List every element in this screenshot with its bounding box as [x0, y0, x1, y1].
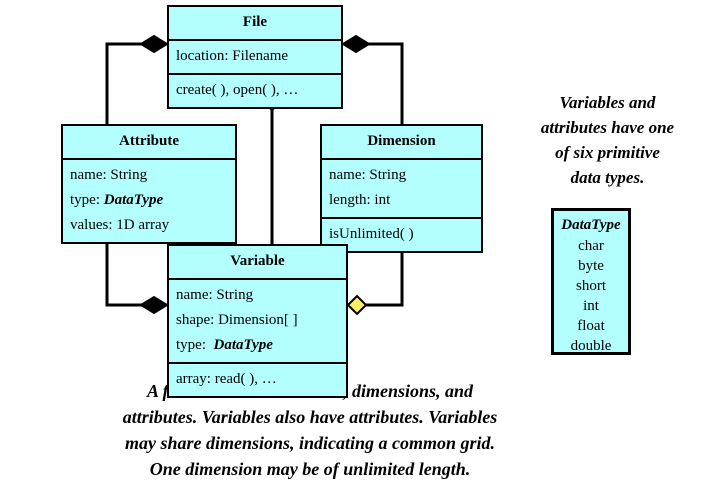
uml-class-file[interactable]: File location: Filename create( ), open(… [167, 5, 343, 109]
uml-enumeration-datatype[interactable]: DataType char byte short int float doubl… [551, 208, 631, 355]
filled-diamond-icon [141, 297, 167, 313]
attribute-field-type-value: DataType [104, 192, 163, 208]
dimension-operation-isunlimited: isUnlimited( ) [329, 222, 474, 247]
variable-operations-compartment: array: read( ), … [169, 362, 346, 396]
caption-right-line-2: attributes have one [500, 115, 715, 140]
caption-right-line-3: of six primitive [500, 140, 715, 165]
datatype-value-char: char [554, 236, 628, 256]
file-operation-create-open: create( ), open( ), … [176, 78, 334, 103]
connector-file-attribute [107, 36, 167, 124]
attribute-attributes-compartment: name: String type: DataType values: 1D a… [63, 158, 235, 242]
dimension-title-compartment: Dimension [322, 126, 481, 158]
attribute-field-values: values: 1D array [70, 213, 228, 238]
caption-bottom-line-2: attributes. Variables also have attribut… [20, 404, 600, 430]
variable-title-compartment: Variable [169, 246, 346, 278]
file-title-compartment: File [169, 7, 341, 39]
datatype-value-double: double [554, 336, 628, 356]
datatype-enum-name: DataType [554, 215, 628, 236]
file-attribute-location: location: Filename [176, 44, 334, 69]
file-operations-compartment: create( ), open( ), … [169, 73, 341, 107]
attribute-field-type: type: DataType [70, 188, 228, 213]
variable-field-type: type: DataType [176, 333, 339, 358]
file-attributes-compartment: location: Filename [169, 39, 341, 73]
attribute-title-compartment: Attribute [63, 126, 235, 158]
variable-field-name: name: String [176, 283, 339, 308]
variable-field-shape: shape: Dimension[ ] [176, 308, 339, 333]
caption-right-line-1: Variables and [500, 90, 715, 115]
connector-file-dimension [343, 36, 402, 124]
uml-class-attribute[interactable]: Attribute name: String type: DataType va… [61, 124, 237, 244]
variable-class-name: Variable [176, 249, 339, 274]
dimension-class-name: Dimension [329, 129, 474, 154]
datatype-value-int: int [554, 296, 628, 316]
dimension-attributes-compartment: name: String length: int [322, 158, 481, 217]
filled-diamond-icon [343, 36, 369, 52]
attribute-field-name: name: String [70, 163, 228, 188]
attribute-class-name: Attribute [70, 129, 228, 154]
caption-bottom-line-3: may share dimensions, indicating a commo… [20, 430, 600, 456]
uml-class-dimension[interactable]: Dimension name: String length: int isUnl… [320, 124, 483, 253]
hollow-diamond-icon [348, 296, 366, 314]
dimension-field-name: name: String [329, 163, 474, 188]
datatype-value-float: float [554, 316, 628, 336]
variable-field-type-value: DataType [214, 337, 273, 353]
caption-datatype-note: Variables and attributes have one of six… [500, 90, 715, 190]
variable-operation-array-read: array: read( ), … [176, 367, 339, 392]
variable-attributes-compartment: name: String shape: Dimension[ ] type: D… [169, 278, 346, 362]
caption-bottom-line-4: One dimension may be of unlimited length… [20, 456, 600, 482]
uml-diagram-canvas: File location: Filename create( ), open(… [0, 0, 720, 496]
datatype-value-short: short [554, 276, 628, 296]
uml-class-variable[interactable]: Variable name: String shape: Dimension[ … [167, 244, 348, 398]
connector-file-variable [260, 88, 284, 244]
dimension-field-length: length: int [329, 188, 474, 213]
caption-right-line-4: data types. [500, 165, 715, 190]
filled-diamond-icon [141, 36, 167, 52]
file-class-name: File [176, 10, 334, 35]
datatype-value-byte: byte [554, 256, 628, 276]
